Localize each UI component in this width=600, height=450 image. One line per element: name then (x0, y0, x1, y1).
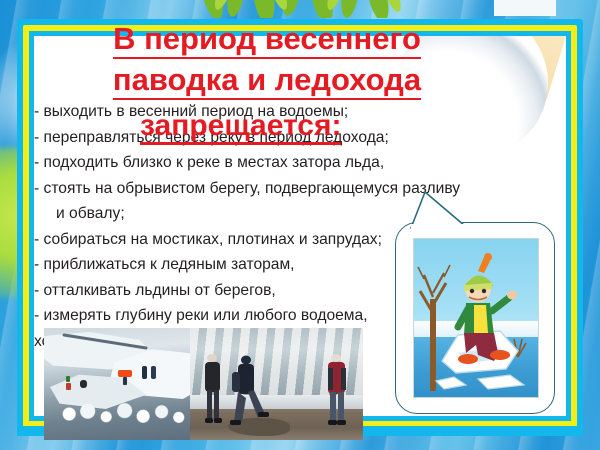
list-item: - подходить близко к реке в местах затор… (34, 150, 544, 176)
photo-person (80, 380, 87, 388)
cartoon-tree-icon (418, 265, 450, 391)
photo-person (205, 354, 222, 423)
list-item: - переправляться через реку в период лед… (34, 125, 544, 151)
photo-person-jumping (118, 370, 132, 385)
leaf-decoration-icon (188, 0, 428, 18)
photo-person (151, 366, 156, 379)
speech-bubble-tail-icon (405, 190, 489, 230)
cartoon-small-ice-floes (436, 375, 524, 389)
cartoon-child-on-ice-floe (413, 238, 539, 398)
background-top-panel (494, 0, 556, 16)
photo-person (66, 376, 71, 390)
list-item-text: - стоять на обрывистом берегу, подвергаю… (34, 180, 460, 197)
photo-ice-rubble (56, 400, 188, 428)
photo-people-on-broken-ice (190, 328, 363, 440)
photo-figures (190, 328, 363, 440)
photo-person (230, 356, 269, 426)
list-item: - выходить в весенний период на водоемы; (34, 99, 544, 125)
photo-person (328, 354, 346, 425)
speech-bubble (395, 222, 555, 414)
photo-person (142, 366, 147, 379)
photo-ice-floes-aerial (44, 328, 196, 440)
poster-root: В период весеннего паводка и ледохода за… (0, 0, 600, 450)
